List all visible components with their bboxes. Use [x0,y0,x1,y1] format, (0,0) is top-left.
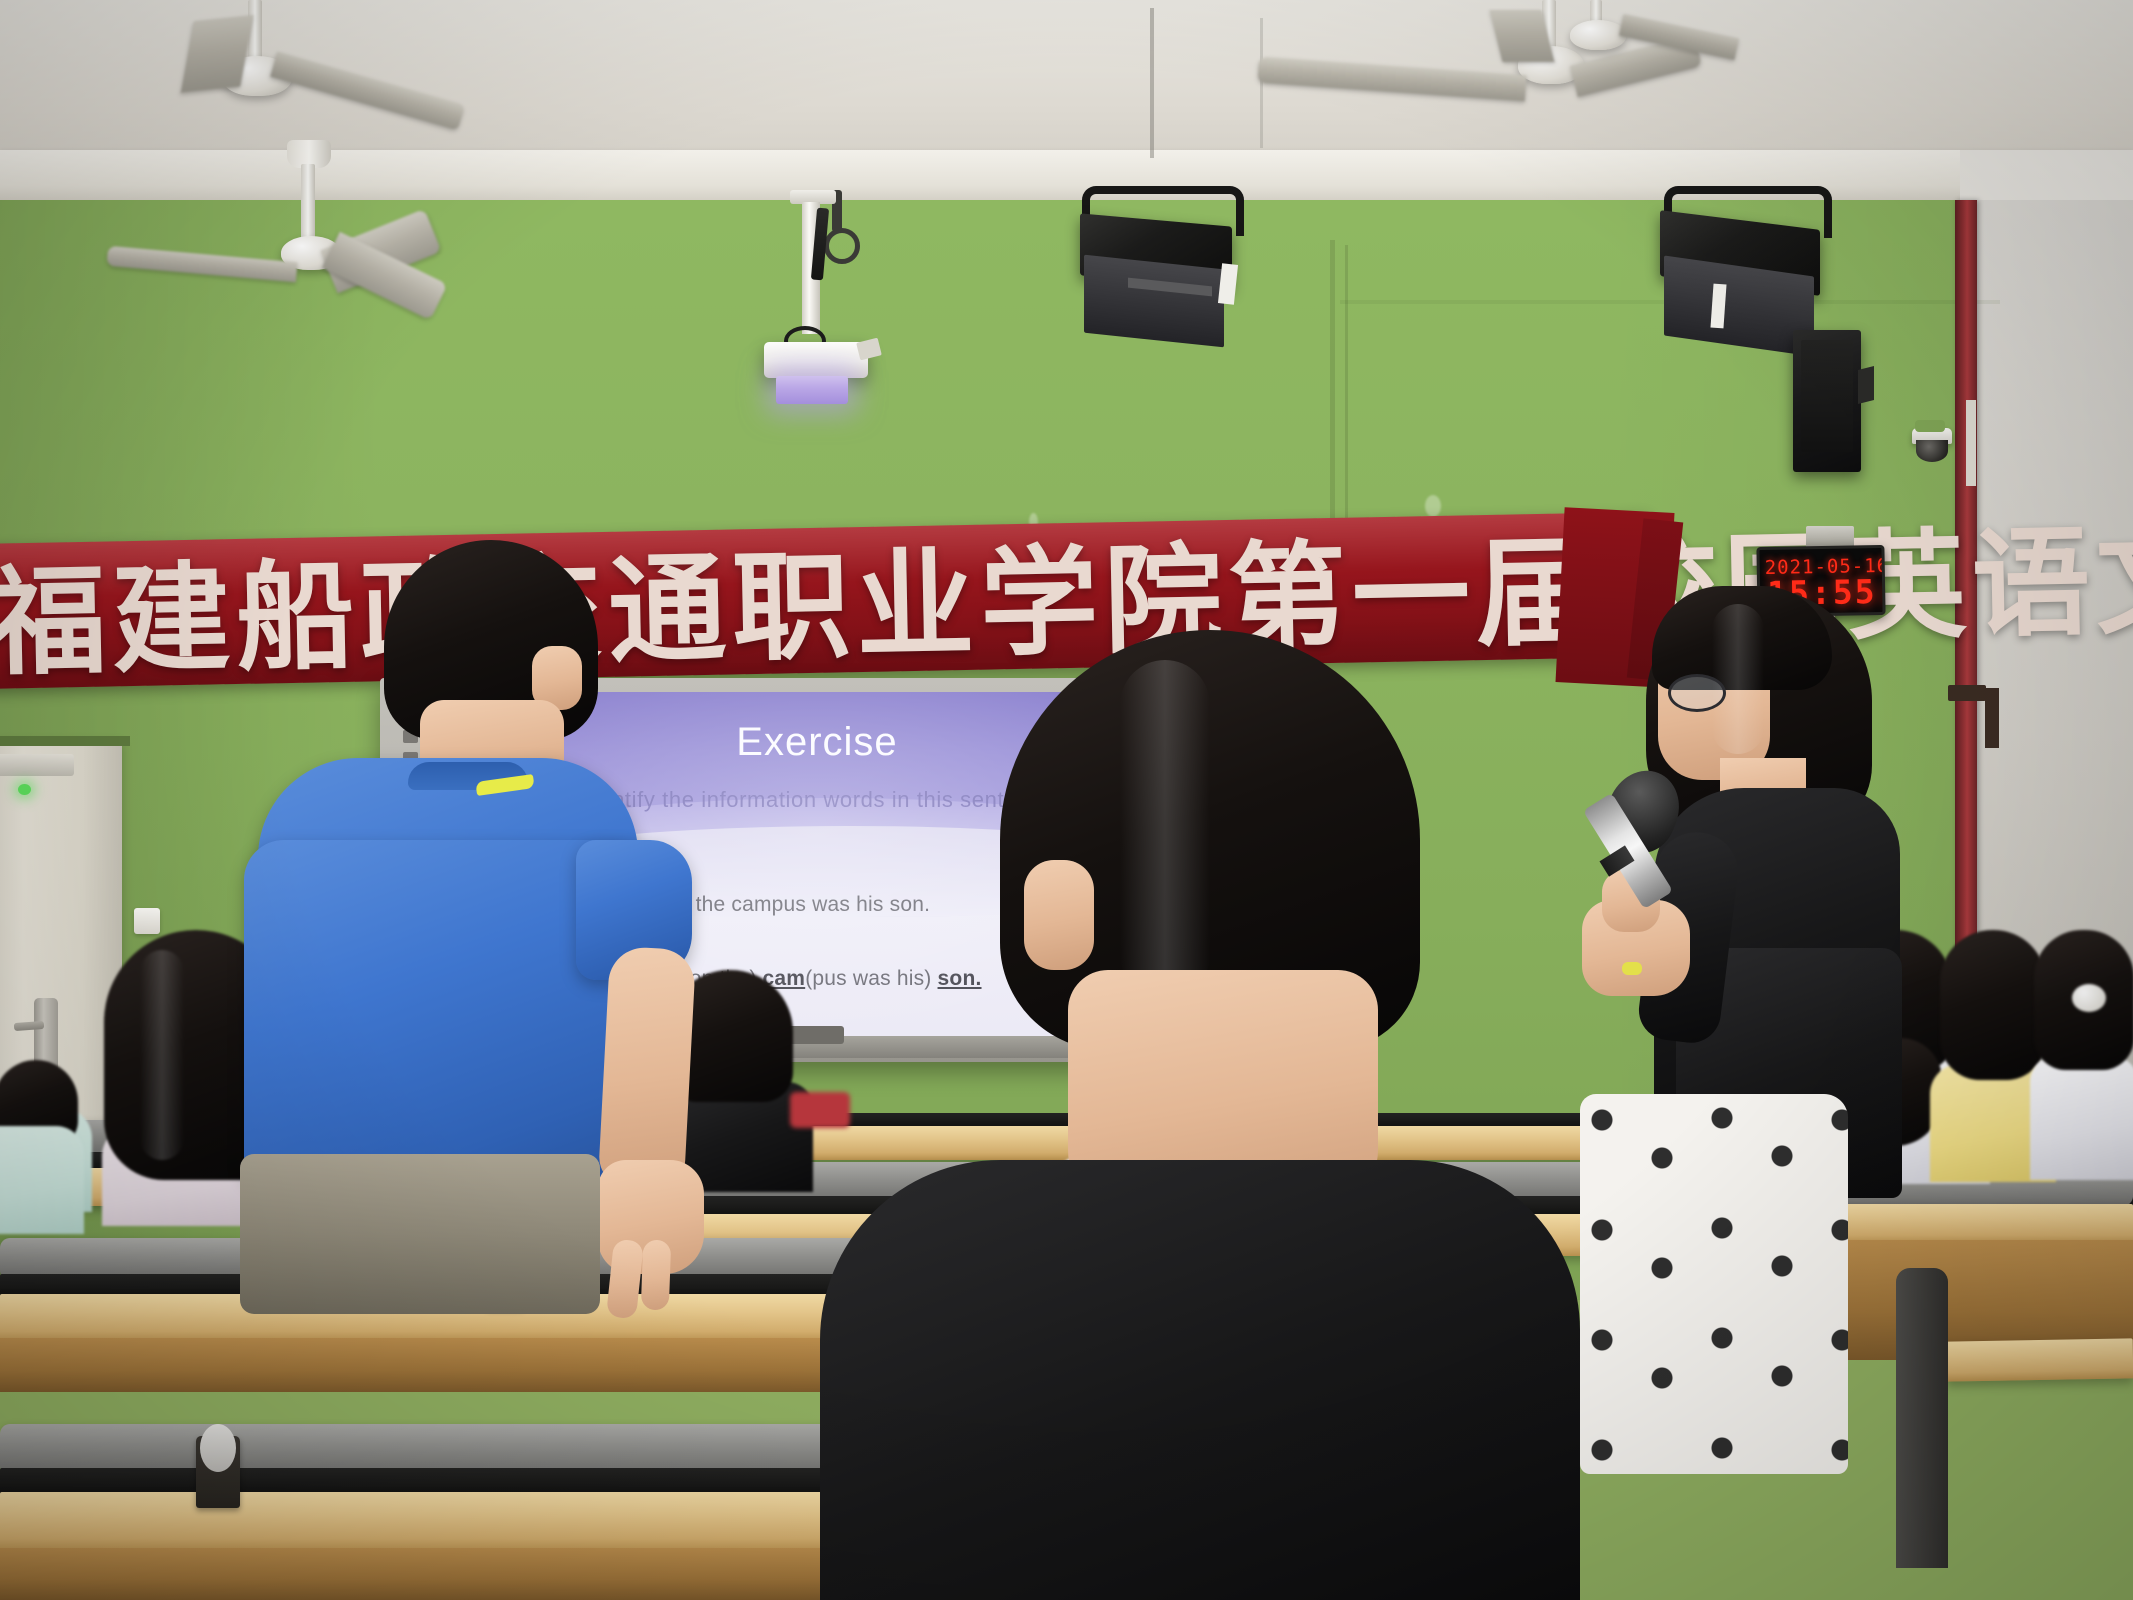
ceiling-fan-center-left [185,140,525,320]
stage-light-left [1070,186,1260,356]
ceiling-seam [1150,8,1154,158]
ceiling-mounted-projector [740,190,960,480]
student-shorts [240,1154,600,1314]
presenter-skirt [1580,1094,1848,1474]
hair-scrunchie [2072,984,2106,1012]
wall-panel-seam [1345,245,1348,540]
wall-panel-seam [1330,240,1335,540]
ceiling-seam-secondary [1260,18,1263,148]
pipe-bracket [1985,688,1999,748]
ear [1024,860,1094,970]
glasses-icon [1668,674,1726,712]
dome-security-camera [1912,420,1954,464]
door-status-led [18,784,31,795]
foreground-student-shirt [820,1160,1580,1600]
red-object-on-desk [790,1092,850,1128]
presenter [1590,570,1980,1470]
bench-support-cap [196,1436,240,1508]
lecture-hall-photo: 福建船政交通职业学院第一届校园英语文化节 2021-05-16 日 15:55:… [0,0,2133,1600]
audience-member-left-edge [0,1070,90,1230]
foreground-student [940,630,1580,1600]
nail-detail [1622,962,1642,975]
wall-conduit [1966,400,1976,486]
standing-student [280,540,750,1420]
ceiling-fan-far-right [1530,0,1730,60]
student-arm [598,946,696,1190]
speaker-bracket [1858,366,1874,404]
door-frame-top [0,736,130,746]
audience-member-scrunchie [2030,930,2133,1170]
wall-speaker [1793,330,1861,472]
